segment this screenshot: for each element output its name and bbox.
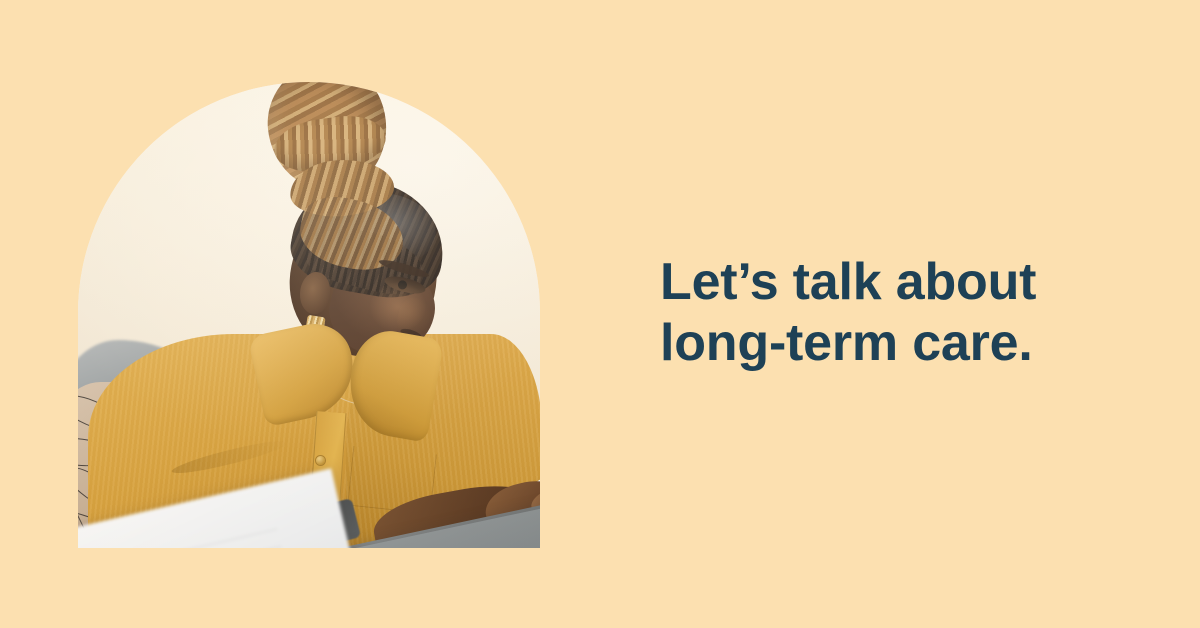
photo-illustration bbox=[78, 82, 540, 548]
arch-photo-frame bbox=[78, 82, 540, 548]
headline-line-1: Let’s talk about bbox=[660, 252, 1140, 313]
headline-line-2: long-term care. bbox=[660, 313, 1140, 374]
cheek-highlight bbox=[370, 282, 426, 332]
page-title: Let’s talk about long-term care. bbox=[660, 252, 1140, 374]
promo-banner: Let’s talk about long-term care. bbox=[0, 0, 1200, 628]
shirt-button bbox=[316, 456, 325, 465]
